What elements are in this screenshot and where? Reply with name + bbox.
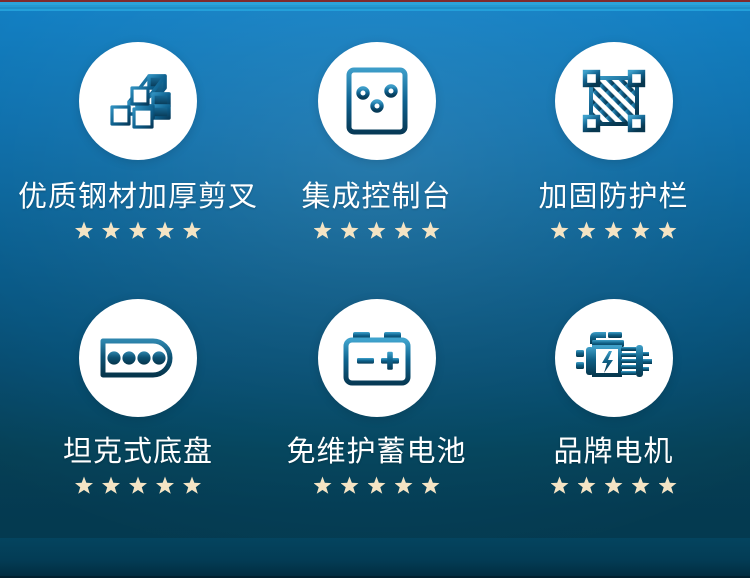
battery-icon bbox=[342, 329, 412, 387]
reinforced-guardrail-icon bbox=[580, 67, 648, 135]
star-icon bbox=[632, 476, 650, 494]
feature-banner: 优质钢材加厚剪叉 bbox=[0, 0, 750, 578]
feature-card-1[interactable]: 优质钢材加厚剪叉 bbox=[18, 28, 258, 281]
top-rule-blue-3 bbox=[0, 9, 750, 11]
star-icon bbox=[341, 476, 359, 494]
star-icon bbox=[183, 221, 201, 239]
icon-circle-5 bbox=[318, 299, 436, 417]
rating-stars-5 bbox=[314, 476, 440, 494]
star-icon bbox=[632, 221, 650, 239]
star-icon bbox=[551, 221, 569, 239]
feature-label-4: 坦克式底盘 bbox=[63, 437, 213, 467]
rating-stars-4 bbox=[75, 476, 201, 494]
star-icon bbox=[659, 221, 677, 239]
star-icon bbox=[605, 476, 623, 494]
feature-card-4[interactable]: 坦克式底盘 bbox=[18, 281, 258, 534]
rating-stars-3 bbox=[551, 221, 677, 239]
feature-label-2: 集成控制台 bbox=[302, 182, 452, 212]
rating-stars-2 bbox=[314, 221, 440, 239]
star-icon bbox=[314, 476, 332, 494]
star-icon bbox=[102, 476, 120, 494]
star-icon bbox=[75, 221, 93, 239]
icon-circle-4 bbox=[79, 299, 197, 417]
feature-label-3: 加固防护栏 bbox=[538, 182, 688, 212]
star-icon bbox=[422, 221, 440, 239]
feature-grid: 优质钢材加厚剪叉 bbox=[0, 0, 750, 578]
rating-stars-6 bbox=[551, 476, 677, 494]
star-icon bbox=[395, 221, 413, 239]
star-icon bbox=[659, 476, 677, 494]
star-icon bbox=[183, 476, 201, 494]
star-icon bbox=[129, 476, 147, 494]
bottom-band bbox=[0, 538, 750, 578]
feature-label-6: 品牌电机 bbox=[553, 437, 673, 467]
rating-stars-1 bbox=[75, 221, 201, 239]
star-icon bbox=[368, 476, 386, 494]
feature-card-5[interactable]: 免维护蓄电池 bbox=[258, 281, 495, 534]
feature-card-6[interactable]: 品牌电机 bbox=[495, 281, 732, 534]
star-icon bbox=[605, 221, 623, 239]
feature-label-1: 优质钢材加厚剪叉 bbox=[18, 182, 258, 212]
electric-motor-icon bbox=[574, 326, 654, 390]
star-icon bbox=[156, 221, 174, 239]
feature-card-2[interactable]: 集成控制台 bbox=[258, 28, 495, 281]
star-icon bbox=[341, 221, 359, 239]
star-icon bbox=[395, 476, 413, 494]
feature-card-3[interactable]: 加固防护栏 bbox=[495, 28, 732, 281]
star-icon bbox=[551, 476, 569, 494]
star-icon bbox=[156, 476, 174, 494]
feature-label-5: 免维护蓄电池 bbox=[287, 437, 467, 467]
icon-circle-1 bbox=[79, 42, 197, 160]
steel-tubes-icon bbox=[101, 64, 175, 138]
icon-circle-6 bbox=[555, 299, 673, 417]
icon-circle-3 bbox=[555, 42, 673, 160]
star-icon bbox=[102, 221, 120, 239]
star-icon bbox=[578, 476, 596, 494]
tank-track-chassis-icon bbox=[100, 335, 176, 381]
star-icon bbox=[129, 221, 147, 239]
star-icon bbox=[314, 221, 332, 239]
star-icon bbox=[75, 476, 93, 494]
star-icon bbox=[578, 221, 596, 239]
star-icon bbox=[368, 221, 386, 239]
icon-circle-2 bbox=[318, 42, 436, 160]
star-icon bbox=[422, 476, 440, 494]
control-panel-sliders-icon bbox=[345, 66, 409, 136]
